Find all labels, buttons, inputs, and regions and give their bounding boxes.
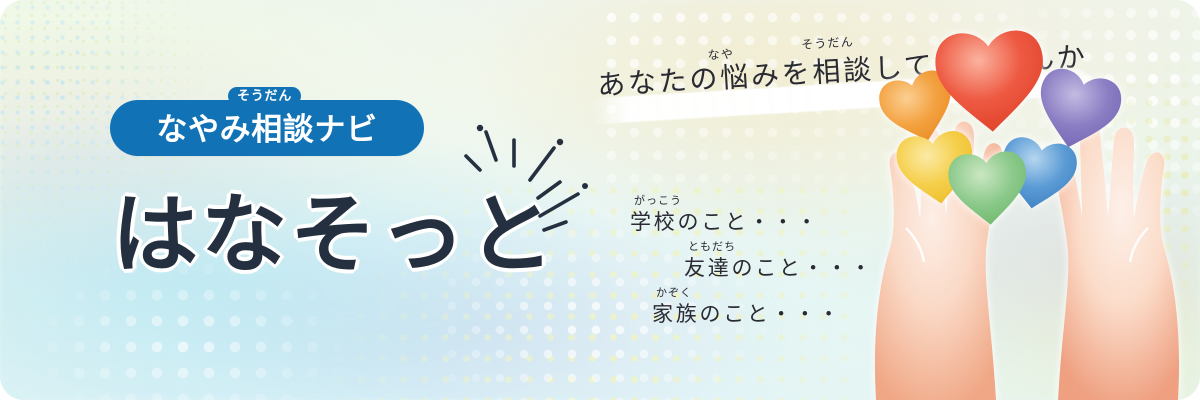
brand-block: なやみ相談ナビ そうだん はなそっと [0, 0, 560, 400]
headline-ruby-naya: なや [707, 48, 734, 62]
topic-ruby: がっこう [634, 196, 682, 207]
site-header-banner: なやみ相談ナビ そうだん はなそっと あなたの悩みを相談してみませんか なや そ… [0, 0, 1200, 400]
topic-text: 家族のこと・・・ [652, 304, 842, 325]
topic-text: 友達のこと・・・ [684, 258, 874, 279]
heart-red [934, 29, 1047, 134]
badge-ruby-soudan: そうだん [228, 87, 301, 105]
sparkle-burst-icon [452, 122, 592, 242]
badge-label: なやみ相談ナビ [156, 114, 377, 145]
topic-text: 学校のこと・・・ [630, 212, 820, 233]
hands-holding-hearts-illustration [860, 0, 1200, 400]
badge-pill[interactable]: なやみ相談ナビ [110, 100, 424, 156]
heart-purple [1029, 64, 1126, 157]
headline-ruby-soudan: そうだん [801, 36, 854, 51]
topic-ruby: ともだち [688, 242, 736, 253]
service-name-badge[interactable]: なやみ相談ナビ そうだん [110, 100, 424, 156]
topic-ruby: かぞく [656, 288, 692, 299]
